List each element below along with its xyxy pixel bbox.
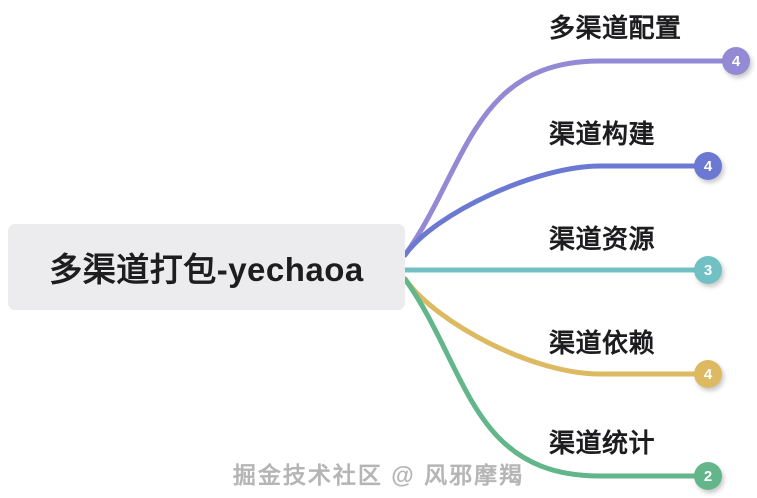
mindmap-canvas: 多渠道打包-yechaoa 多渠道配置4渠道构建4渠道资源3渠道依赖4渠道统计2… (0, 0, 757, 498)
branch-count-badge-3[interactable]: 3 (694, 256, 722, 284)
branch-label-4[interactable]: 渠道依赖 (549, 330, 655, 356)
branch-label-5[interactable]: 渠道统计 (549, 430, 655, 456)
branch-label-2[interactable]: 渠道构建 (549, 121, 655, 147)
root-node[interactable]: 多渠道打包-yechaoa (8, 224, 405, 310)
branch-line-4 (405, 279, 696, 374)
branch-label-1[interactable]: 多渠道配置 (549, 15, 682, 41)
branch-count-badge-4[interactable]: 4 (694, 360, 722, 388)
branch-count-badge-1[interactable]: 4 (722, 47, 750, 75)
root-node-label: 多渠道打包-yechaoa (49, 243, 364, 291)
watermark: 掘金技术社区 @ 风邪摩羯 (0, 456, 757, 490)
branch-count-badge-2[interactable]: 4 (694, 152, 722, 180)
branch-label-3[interactable]: 渠道资源 (549, 226, 655, 252)
